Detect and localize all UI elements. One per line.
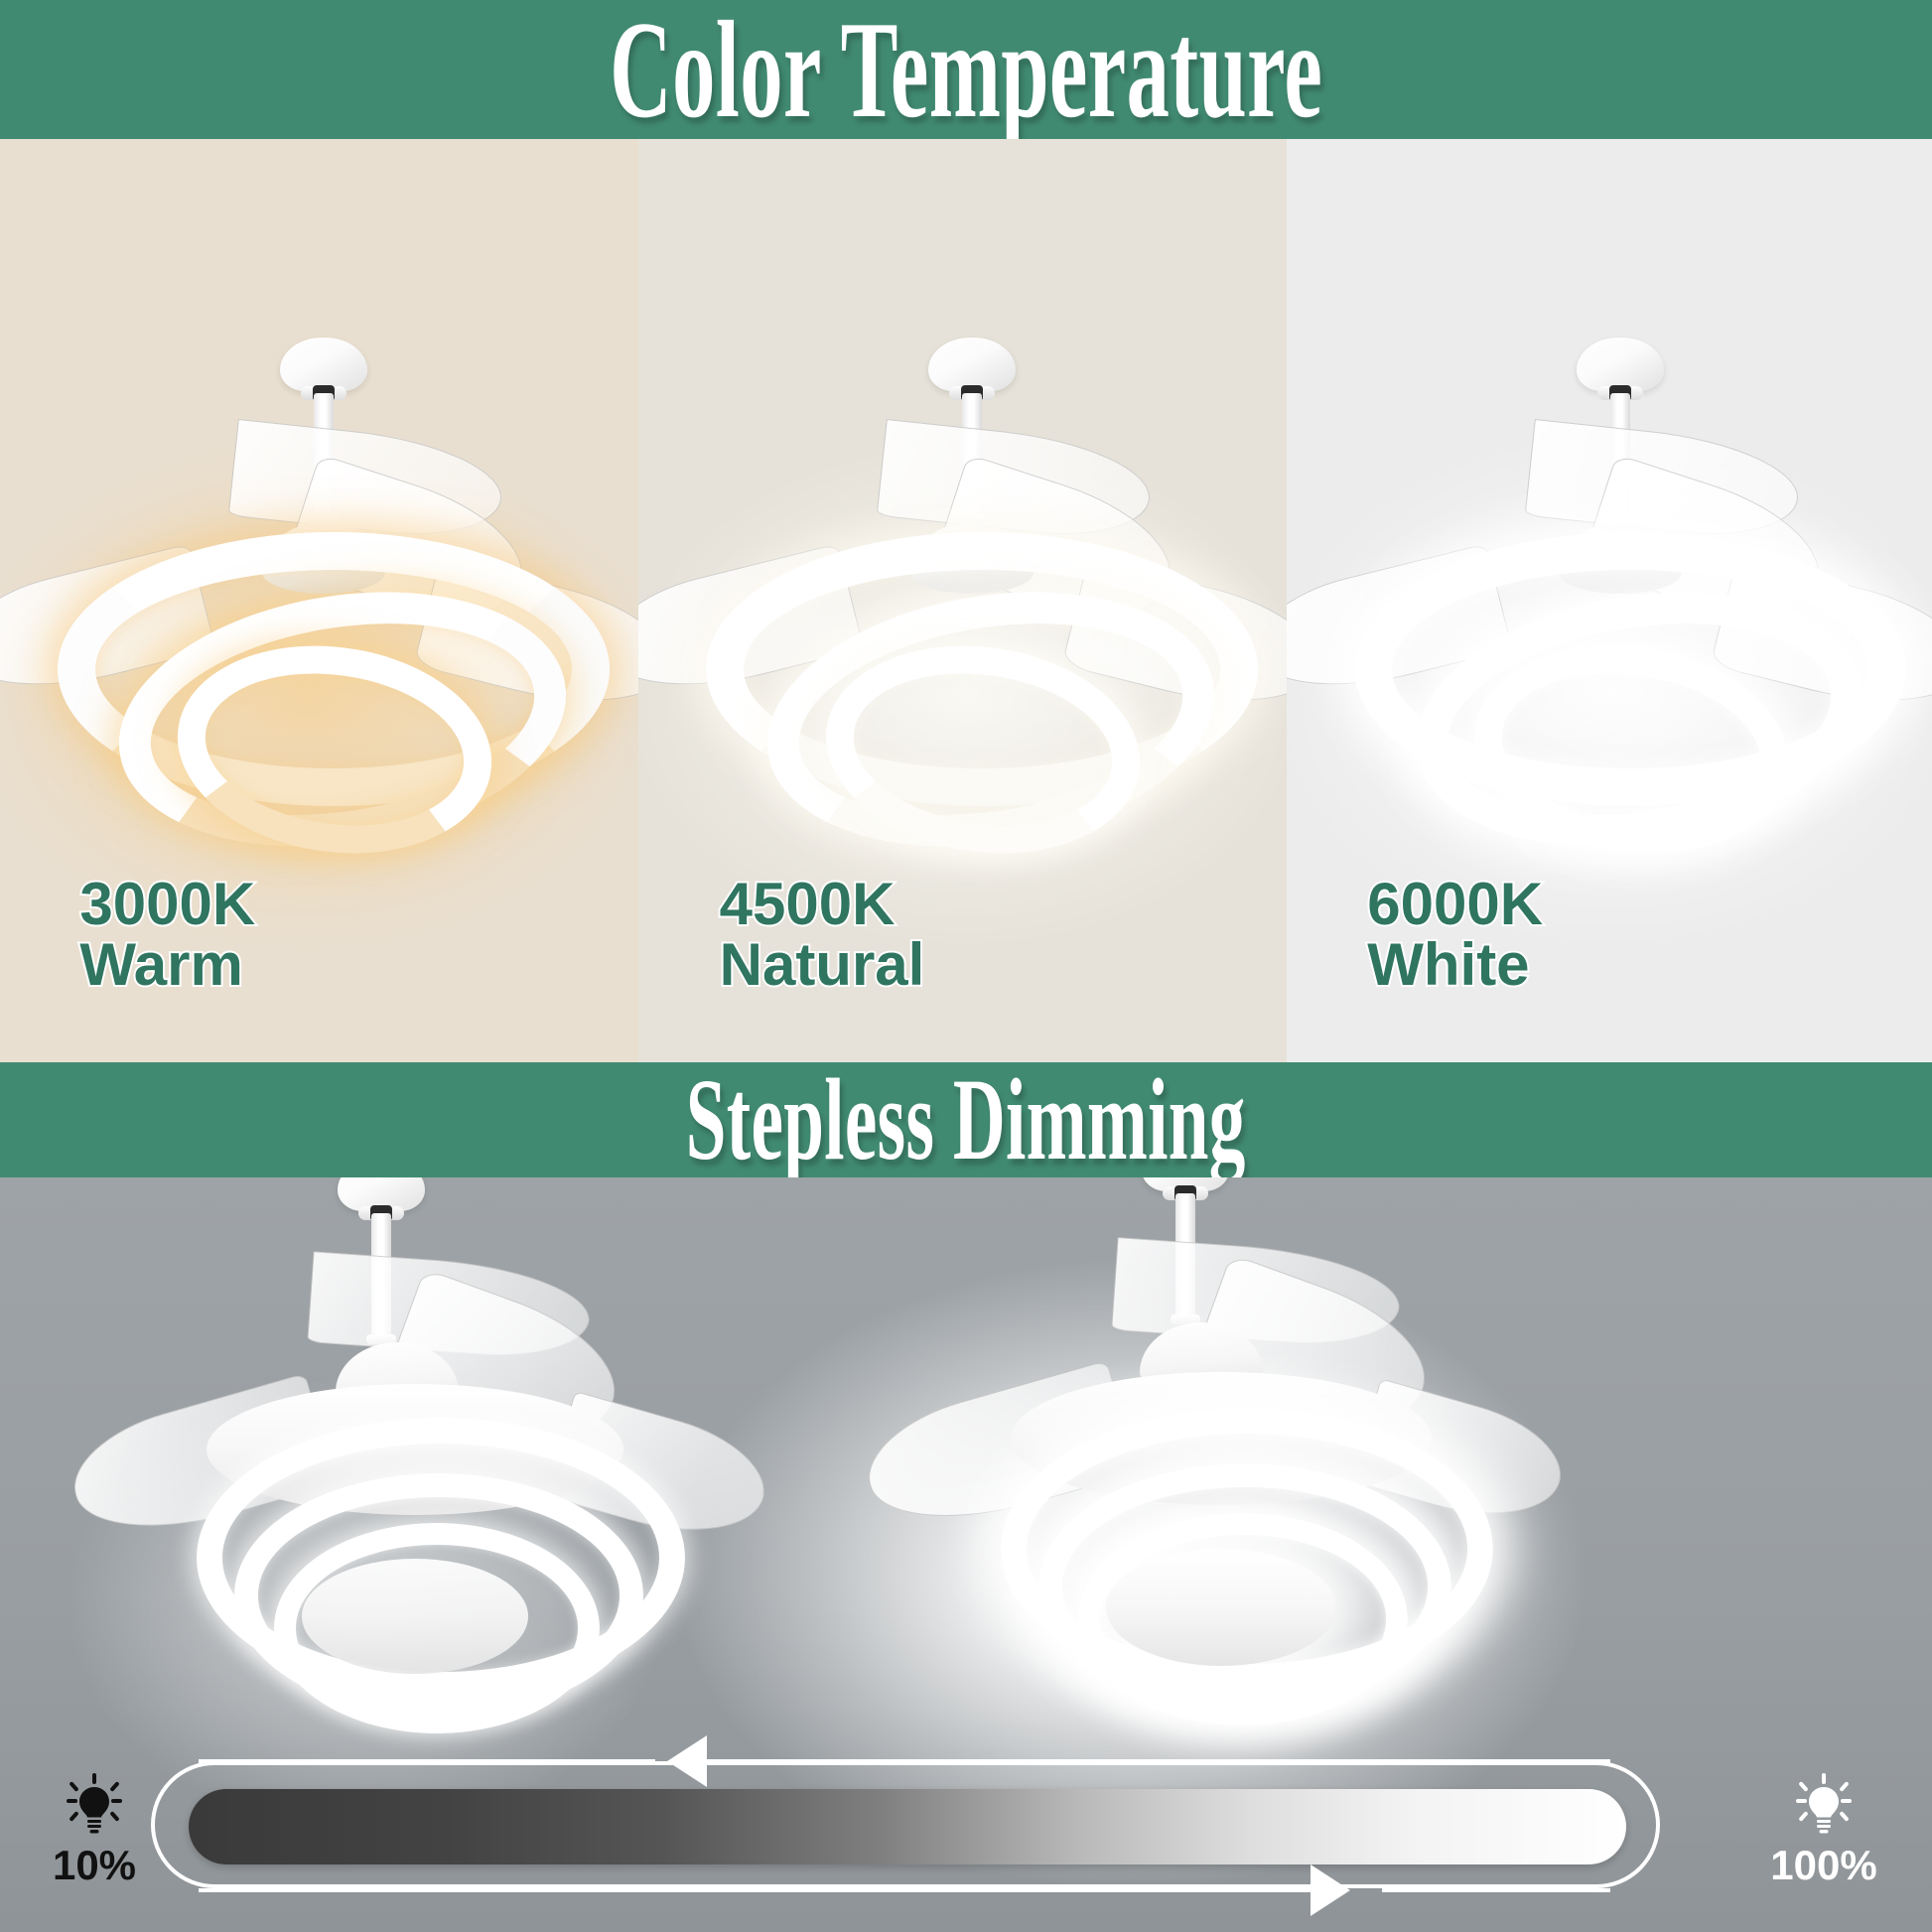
decrease-track-line [707,1759,1610,1763]
dimming-gradient-track[interactable] [189,1789,1626,1864]
arrow-left-icon[interactable] [667,1735,707,1787]
kelvin-name: Natural [720,934,925,995]
increase-track-line [199,1888,1311,1892]
color-temperature-panels: 3000K Warm [0,139,1932,1062]
kelvin-value: 3000K [79,874,255,934]
color-temperature-label-6000k: 6000K White [1367,874,1543,995]
dimming-min-indicator: 10% [20,1773,169,1886]
kelvin-name: White [1367,934,1543,995]
kelvin-name: Warm [79,934,255,995]
led-ring-group-dim-high [824,1177,1519,1793]
lightbulb-dim-icon [63,1773,126,1837]
color-temperature-panel-4500k: 4500K Natural [638,139,1287,1062]
arrow-right-icon[interactable] [1311,1864,1350,1916]
color-temperature-label-4500k: 4500K Natural [720,874,925,995]
dimming-max-indicator: 100% [1749,1773,1898,1886]
dimming-min-label: 10% [20,1845,169,1886]
decrease-track-line [199,1759,655,1763]
led-ring-group-dim-low [89,1177,784,1793]
infographic-page: Color Temperature [0,0,1932,1932]
color-temperature-title: Color Temperature [610,0,1322,150]
dimming-max-label: 100% [1749,1845,1898,1886]
color-temperature-banner: Color Temperature [0,0,1932,139]
kelvin-value: 4500K [720,874,925,934]
color-temperature-panel-3000k: 3000K Warm [0,139,638,1062]
diffuser-disc [1106,1549,1336,1666]
dim-preview-high [824,1177,1519,1793]
kelvin-value: 6000K [1367,874,1543,934]
lightbulb-bright-icon [1792,1773,1856,1837]
color-temperature-panel-6000k: 6000K White [1287,139,1932,1062]
stepless-dimming-title: Stepless Dimming [686,1052,1246,1187]
dim-preview-low [89,1177,784,1793]
stepless-dimming-banner: Stepless Dimming [0,1062,1932,1177]
color-temperature-label-3000k: 3000K Warm [79,874,255,995]
dimming-slider[interactable]: 10% [0,1747,1932,1932]
diffuser-disc [302,1559,528,1674]
increase-track-line [1382,1888,1610,1892]
